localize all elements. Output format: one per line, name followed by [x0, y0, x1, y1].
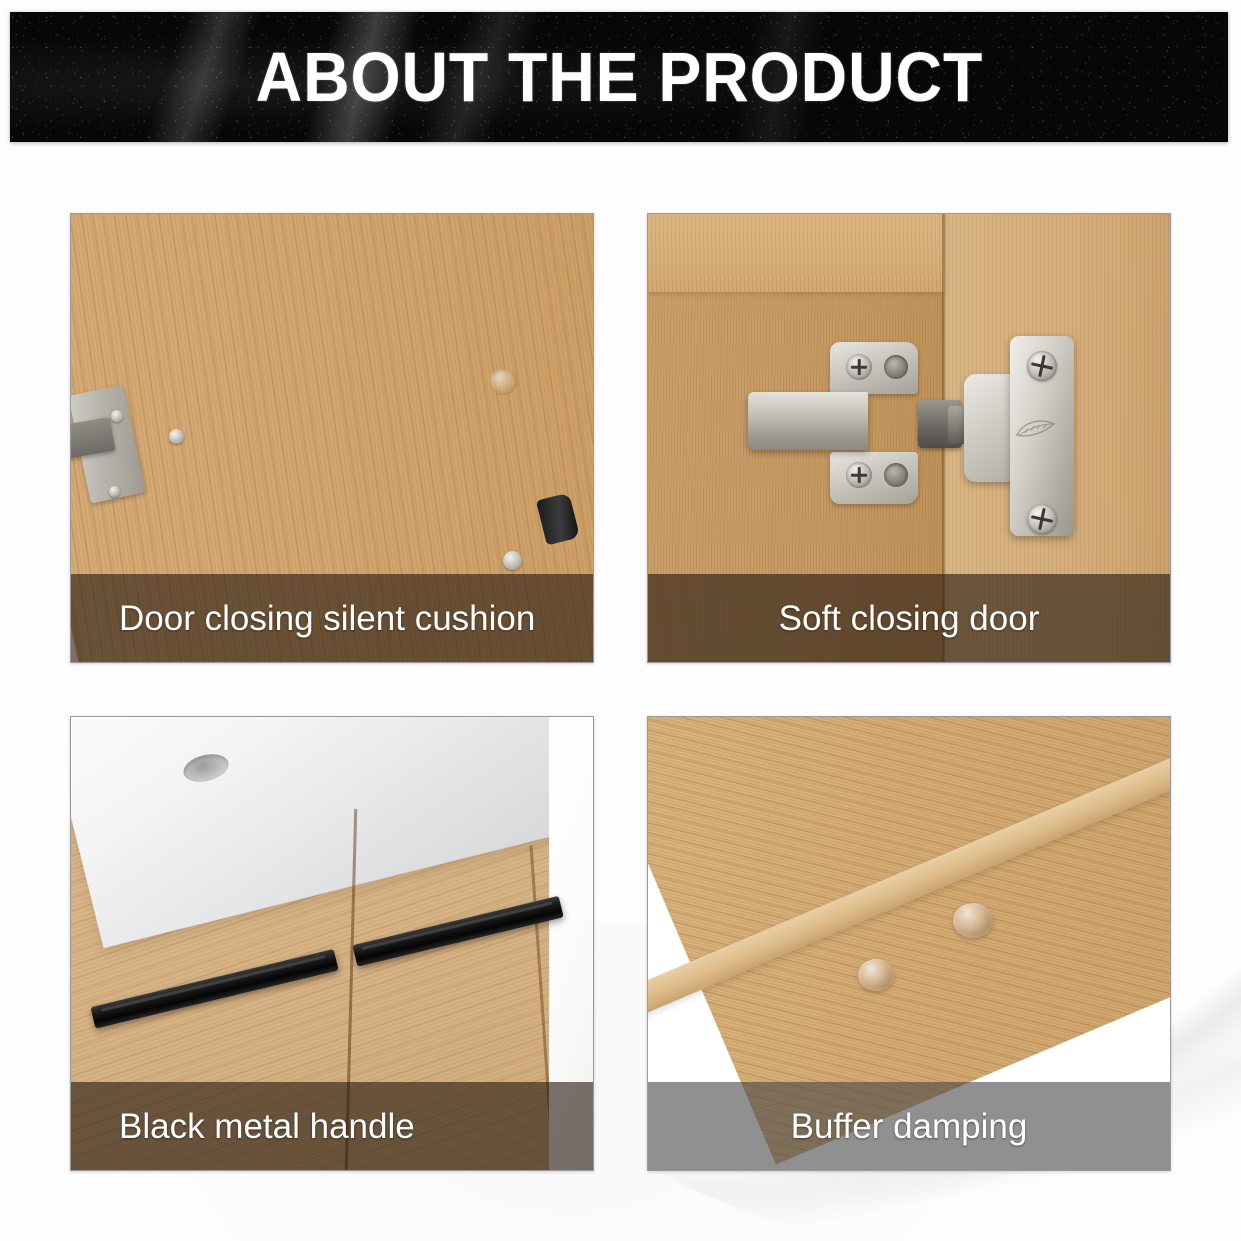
feature-panel-black-metal-handle[interactable]: Black metal handle	[70, 716, 594, 1171]
hinge-cup-hole-upper	[884, 355, 908, 379]
mounting-plate-screw-top	[1027, 351, 1057, 381]
leaf-logo-icon	[1014, 417, 1056, 439]
hinge-cup-hole-lower	[884, 463, 908, 487]
caption-band-soft-closing-door: Soft closing door	[648, 574, 1170, 662]
hinge-cup-screw-upper	[846, 354, 872, 380]
feature-panel-soft-closing-door[interactable]: Soft closing door	[647, 213, 1171, 663]
caption-text: Buffer damping	[791, 1109, 1028, 1144]
feature-grid: Door closing silent cushion	[70, 213, 1171, 1171]
hinge-cup-screw-lower	[846, 462, 872, 488]
caption-text: Door closing silent cushion	[119, 601, 535, 636]
hinge-plate-screw-bottom	[109, 486, 120, 497]
silent-cushion-pad	[489, 369, 517, 395]
hinge-plate-screw-top	[111, 410, 123, 422]
feature-panel-buffer-damping[interactable]: Buffer damping	[647, 716, 1171, 1171]
door-screw-lower	[503, 551, 522, 570]
caption-band-buffer-damping: Buffer damping	[648, 1082, 1170, 1170]
mounting-plate-screw-bottom	[1027, 504, 1057, 534]
cabinet-top-rail	[648, 214, 944, 292]
caption-band-door-closing-silent-cushion: Door closing silent cushion	[71, 574, 593, 662]
caption-text: Black metal handle	[119, 1109, 415, 1144]
caption-band-black-metal-handle: Black metal handle	[71, 1082, 593, 1170]
hinge-cup-arm	[748, 392, 868, 450]
product-infographic-page: ABOUT THE PRODUCT Door closing silent cu…	[0, 0, 1241, 1241]
feature-panel-door-closing-silent-cushion[interactable]: Door closing silent cushion	[70, 213, 594, 663]
page-title: ABOUT THE PRODUCT	[255, 42, 983, 112]
buffer-damping-pad-left	[858, 959, 894, 991]
buffer-damping-pad-right	[953, 903, 993, 938]
header-banner: ABOUT THE PRODUCT	[10, 12, 1228, 142]
door-screw-upper	[169, 429, 184, 444]
caption-text: Soft closing door	[779, 601, 1040, 636]
